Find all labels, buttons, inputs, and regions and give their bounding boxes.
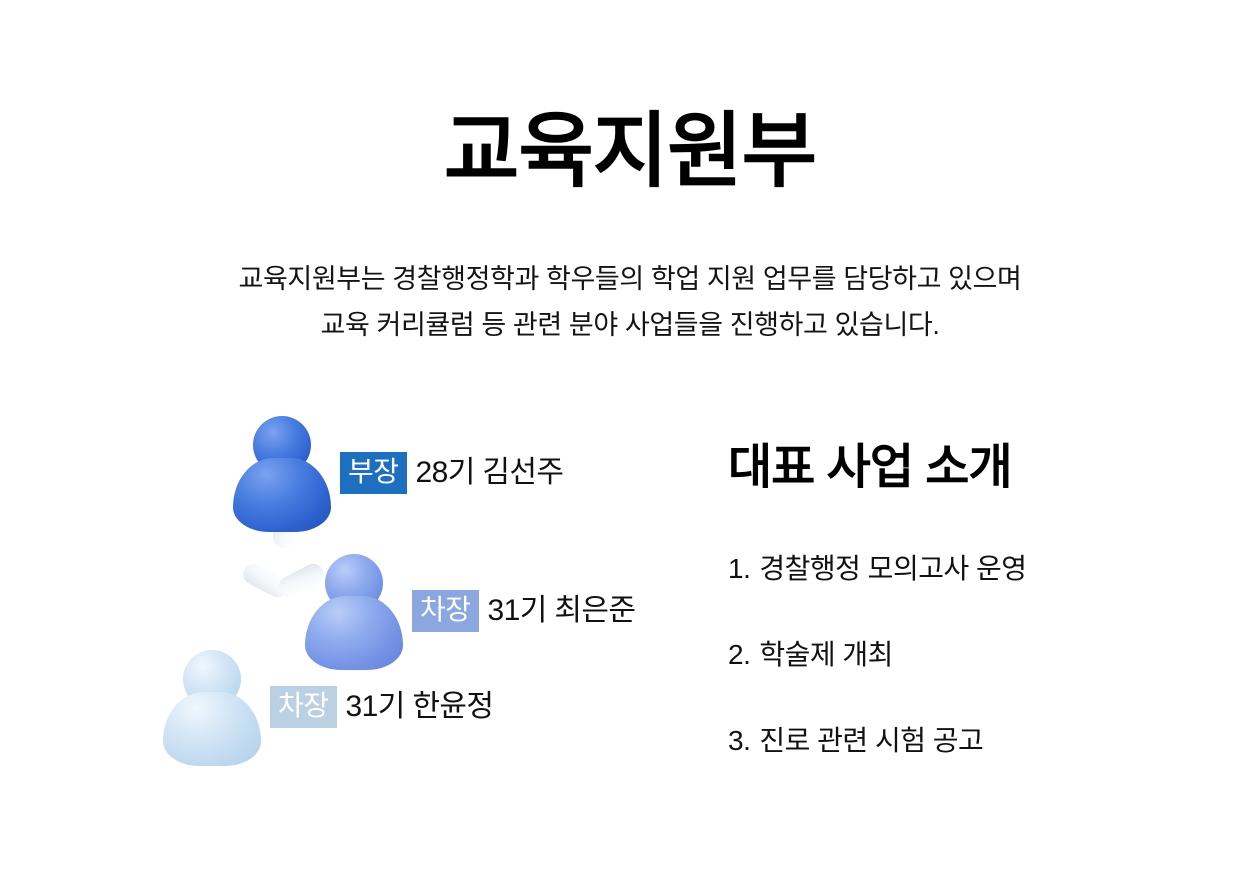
member-list: 부장 28기 김선주 차장 31기 최은준 차장 31기 한윤정 [0,400,700,780]
member-item-director: 부장 28기 김선주 [228,414,563,532]
description-line-1: 교육지원부는 경찰행정학과 학우들의 학업 지원 업무를 담당하고 있으며 [130,256,1130,302]
projects-section: 대표 사업 소개 1. 경찰행정 모의고사 운영 2. 학술제 개최 3. 진로… [728,440,1198,758]
member-name: 31기 최은준 [488,594,636,628]
description-line-2: 교육 커리큘럼 등 관련 분야 사업들을 진행하고 있습니다. [130,302,1130,348]
role-badge: 부장 [340,452,407,494]
member-name: 31기 한윤정 [346,690,494,724]
project-item: 2. 학술제 개최 [728,638,1198,672]
project-item: 3. 진로 관련 시험 공고 [728,724,1198,758]
avatar-person-icon [228,414,336,532]
page-title: 교육지원부 [0,104,1260,200]
project-number: 1. [728,552,750,586]
role-badge: 차장 [412,590,479,632]
department-intro-slide: 교육지원부 교육지원부는 경찰행정학과 학우들의 학업 지원 업무를 담당하고 … [0,0,1260,891]
avatar-body [233,458,331,532]
project-label: 학술제 개최 [759,638,893,672]
member-label: 부장 28기 김선주 [340,452,563,494]
avatar-person-icon [158,648,266,766]
avatar-body [163,692,261,766]
projects-heading: 대표 사업 소개 [728,440,1198,496]
department-description: 교육지원부는 경찰행정학과 학우들의 학업 지원 업무를 담당하고 있으며 교육… [130,256,1130,348]
member-name: 28기 김선주 [416,456,564,490]
project-label: 경찰행정 모의고사 운영 [759,552,1026,586]
role-badge: 차장 [270,686,337,728]
member-item-deputy-2: 차장 31기 한윤정 [158,648,493,766]
member-label: 차장 31기 최은준 [412,590,635,632]
project-label: 진로 관련 시험 공고 [759,724,983,758]
project-number: 3. [728,724,750,758]
project-item: 1. 경찰행정 모의고사 운영 [728,552,1198,586]
member-label: 차장 31기 한윤정 [270,686,493,728]
project-number: 2. [728,638,750,672]
